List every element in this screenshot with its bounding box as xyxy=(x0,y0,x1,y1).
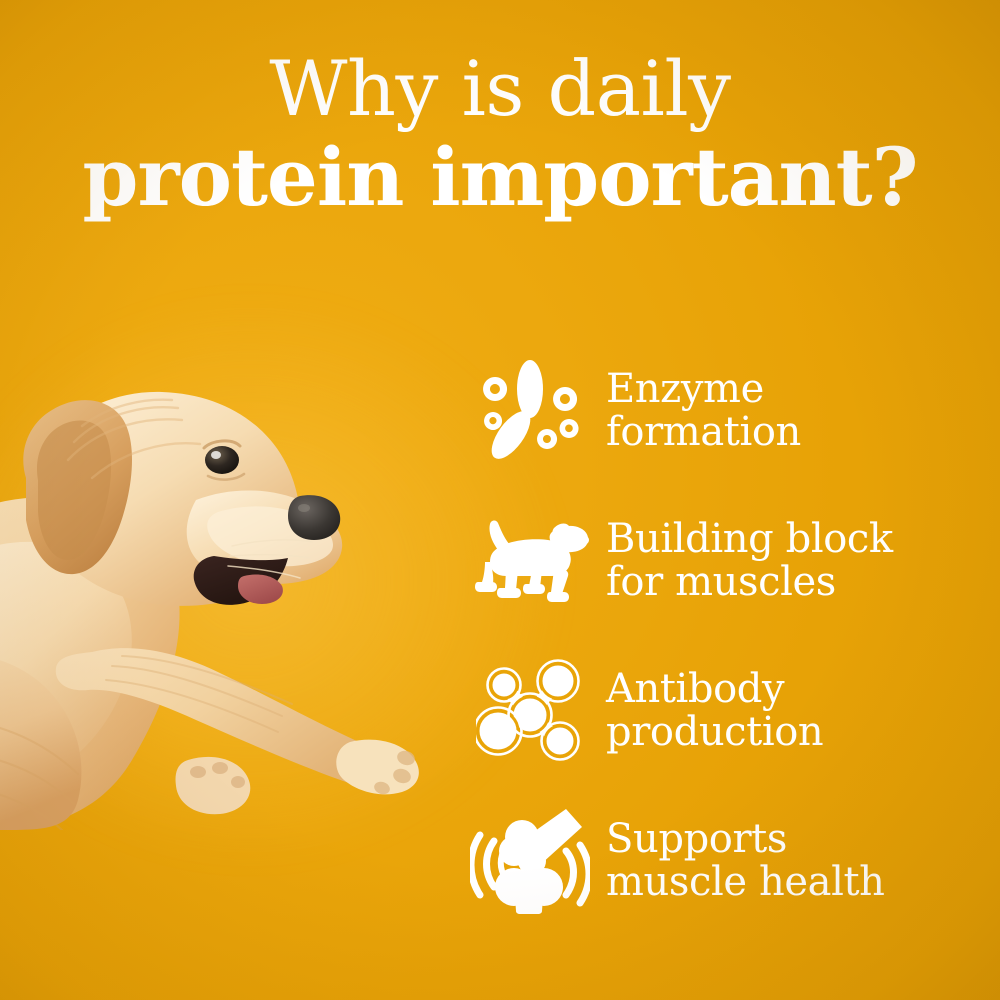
headline: Why is daily protein important? xyxy=(0,52,1000,217)
benefit-line-2: muscle health xyxy=(606,861,885,904)
benefit-line-2: formation xyxy=(606,411,801,454)
benefit-line-1: Antibody xyxy=(606,666,784,712)
puppy-photo xyxy=(0,360,452,830)
benefit-item-building-block: Building block for muscles xyxy=(470,486,990,636)
benefit-line-1: Building block xyxy=(606,516,893,562)
benefit-item-antibody-production: Antibody production xyxy=(470,636,990,786)
benefit-line-1: Enzyme xyxy=(606,366,764,412)
benefit-label-enzyme-formation: Enzyme formation xyxy=(590,368,801,454)
headline-line-2: protein important? xyxy=(0,138,1000,216)
walking-dog-icon xyxy=(470,506,590,616)
benefit-label-muscle-health: Supports muscle health xyxy=(590,818,885,904)
headline-line-1: Why is daily xyxy=(0,52,1000,126)
enzyme-molecules-icon xyxy=(470,356,590,466)
benefits-list: Enzyme formation xyxy=(470,336,990,936)
benefit-item-muscle-health: Supports muscle health xyxy=(470,786,990,936)
benefit-label-antibody-production: Antibody production xyxy=(590,668,823,754)
benefit-item-enzyme-formation: Enzyme formation xyxy=(470,336,990,486)
benefit-label-building-block: Building block for muscles xyxy=(590,518,893,604)
protein-benefits-infographic: Why is daily protein important? xyxy=(0,0,1000,1000)
benefit-line-2: production xyxy=(606,711,823,754)
antibody-molecule-icon xyxy=(470,656,590,766)
benefit-line-1: Supports xyxy=(606,816,787,862)
bone-joint-icon xyxy=(470,806,590,916)
benefit-line-2: for muscles xyxy=(606,561,893,604)
